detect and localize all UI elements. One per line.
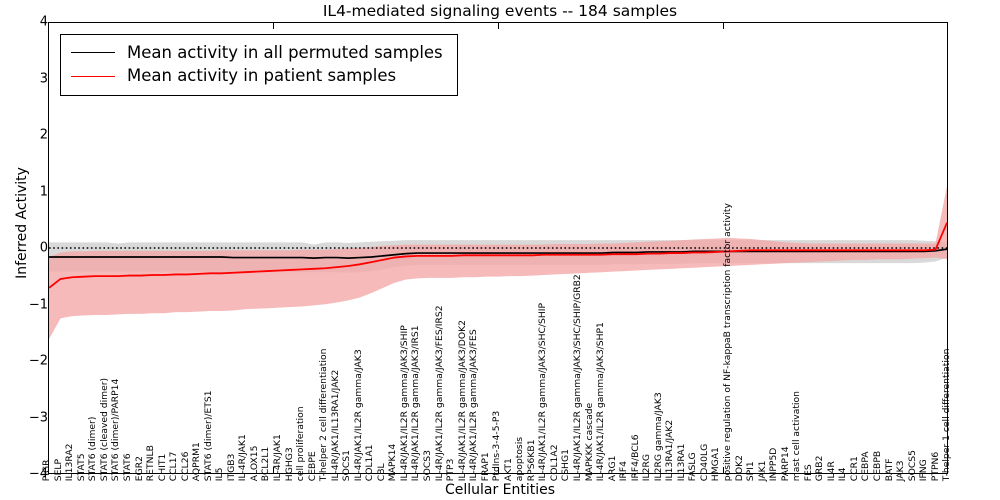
x-category-label: CBL bbox=[377, 463, 386, 481]
x-category-label: ITGB3 bbox=[227, 454, 236, 482]
x-category-label: IL-4R/JAK1/IL2R gamma/JAK3/FES bbox=[469, 329, 478, 481]
x-category-label: IL2RG gamma/JAK3 bbox=[654, 392, 663, 481]
x-category-label: AQPRM1 bbox=[192, 442, 201, 481]
x-category-label: CEBPE bbox=[307, 451, 316, 481]
x-category-label: STAT6 bbox=[123, 453, 132, 481]
legend-item: Mean activity in patient samples bbox=[71, 64, 443, 87]
x-category-label: IFNG bbox=[919, 459, 928, 481]
x-category-label: PTP3 bbox=[446, 459, 455, 482]
x-category-label: STAT5 bbox=[77, 453, 86, 481]
x-category-label: CCL26 bbox=[180, 452, 189, 482]
x-tick-mark bbox=[498, 467, 499, 474]
chart-root: IL4-mediated signaling events -- 184 sam… bbox=[0, 0, 1000, 500]
x-category-label: IL-4R/JAK1/IL2R gamma/JAK3/SHIP bbox=[400, 325, 409, 481]
x-category-label: JAK3 bbox=[896, 461, 905, 482]
x-category-label: BCL2L1 bbox=[261, 447, 270, 481]
x-category-label: CCL17 bbox=[169, 452, 178, 482]
legend-item: Mean activity in all permuted samples bbox=[71, 41, 443, 64]
x-category-label: AKT1 bbox=[504, 458, 513, 481]
x-category-label: JAK1 bbox=[757, 461, 766, 482]
x-category-label: FRAP1 bbox=[480, 452, 489, 481]
x-category-label: DOK2 bbox=[734, 455, 743, 481]
x-category-label: EGR2 bbox=[134, 456, 143, 481]
legend-label: Mean activity in all permuted samples bbox=[127, 41, 443, 64]
x-category-label: IL-4R/JAK1 bbox=[238, 434, 247, 481]
x-category-label: IL-4R/JAK1/IL2R gamma/JAK3/FES/IRS2 bbox=[434, 305, 443, 481]
x-category-label: CHIT1 bbox=[157, 454, 166, 482]
x-category-label: cell proliferation bbox=[296, 406, 305, 481]
x-category-label: STAT6 (dimer) bbox=[88, 417, 97, 482]
legend-label: Mean activity in patient samples bbox=[127, 64, 396, 87]
x-category-label: CCR1 bbox=[850, 456, 859, 481]
y-axis-label: Inferred Activity bbox=[14, 123, 30, 323]
x-category-label: RETNLB bbox=[146, 445, 155, 481]
x-category-label: apoptosis bbox=[515, 437, 524, 481]
x-tick-mark bbox=[498, 22, 499, 29]
x-category-label: IL5 bbox=[215, 468, 224, 482]
x-category-label: CEBPB bbox=[873, 451, 882, 481]
x-category-label: HGHG3 bbox=[284, 447, 293, 481]
x-category-label: ALOX15 bbox=[250, 445, 259, 481]
x-tick-mark bbox=[273, 467, 274, 474]
y-tick-label: 4 bbox=[8, 15, 48, 30]
x-category-label: BATF bbox=[884, 458, 893, 481]
x-category-label: mast cell activation bbox=[792, 391, 801, 481]
x-category-label: IL-4R/JAK1 bbox=[273, 434, 282, 481]
x-category-label: HMGA1 bbox=[711, 447, 720, 481]
x-category-label: SELP bbox=[54, 459, 63, 481]
x-category-label: FASLG bbox=[688, 452, 697, 481]
chart-title: IL4-mediated signaling events -- 184 sam… bbox=[0, 2, 1000, 20]
x-category-label: COL1A1 bbox=[365, 444, 374, 481]
x-tick-mark bbox=[723, 467, 724, 474]
chart-legend: Mean activity in all permuted samplesMea… bbox=[60, 34, 458, 96]
x-tick-mark bbox=[723, 22, 724, 29]
y-tick-label: −1 bbox=[8, 297, 48, 312]
y-tick-label: 2 bbox=[8, 128, 48, 143]
x-category-label: IRF4 bbox=[619, 461, 628, 481]
y-tick-label: 0 bbox=[8, 241, 48, 256]
x-tick-mark bbox=[273, 22, 274, 29]
x-category-label: MAPK14 bbox=[388, 444, 397, 481]
x-category-label: IL-4R/JAK1/IL2R gamma/JAK3 bbox=[354, 349, 363, 481]
x-category-label: STAT6 (dimer)/ETS1 bbox=[204, 390, 213, 481]
x-category-label: CD40LG bbox=[700, 444, 709, 481]
x-category-label: IL-4R/JAK1/IL2R gamma/JAK3/SHP1 bbox=[596, 322, 605, 481]
x-category-label: IL2RG bbox=[642, 454, 651, 481]
x-category-label: PARP14 bbox=[780, 446, 789, 481]
x-category-label: IL-4R/JAK1/IL13RA1/JAK2 bbox=[330, 370, 339, 482]
x-category-label: SOCS5 bbox=[907, 450, 916, 481]
legend-line-swatch bbox=[71, 52, 115, 53]
x-category-label: RPS6KB1 bbox=[527, 439, 536, 481]
x-category-label: IL4R bbox=[827, 461, 836, 481]
x-category-label: IL13RA2 bbox=[65, 444, 74, 482]
x-category-label: T-helper 2 cell differentiation bbox=[319, 349, 328, 482]
x-category-label: IL4 bbox=[838, 468, 847, 482]
x-category-label: IL-4R/JAK1/IL2R gamma/JAK3/SHC/SHIP bbox=[538, 303, 547, 481]
x-category-label: IL-4R/JAK1/IL2R gamma/JAK3/SHC/SHIP/GRB2 bbox=[573, 274, 582, 481]
x-category-label: SPI1 bbox=[746, 461, 755, 481]
x-axis-label: Cellular Entities bbox=[0, 482, 1000, 498]
x-category-label: IL-4R/JAK1/IL2R gamma/JAK3/DOK2 bbox=[457, 320, 466, 481]
y-tick-label: 3 bbox=[8, 71, 48, 86]
x-category-label: IL13RA1 bbox=[677, 444, 686, 482]
x-category-label: IL13RA1/JAK2 bbox=[665, 420, 674, 481]
x-category-label: CSHG1 bbox=[561, 449, 570, 481]
y-tick-label: 1 bbox=[8, 184, 48, 199]
x-category-label: PTPN6 bbox=[930, 452, 939, 481]
x-category-label: MAPKKK cascade bbox=[584, 403, 593, 481]
y-tick-label: −2 bbox=[8, 354, 48, 369]
x-category-label: T-helper 1 cell differentiation bbox=[942, 349, 951, 482]
y-tick-label: −3 bbox=[8, 410, 48, 425]
x-category-label: positive regulation of NF-kappaB transcr… bbox=[723, 203, 732, 481]
x-category-label: INPP5D bbox=[769, 448, 778, 482]
x-category-label: SOCS1 bbox=[342, 450, 351, 481]
x-category-label: PtdIns-3-4-5-P3 bbox=[492, 411, 501, 481]
legend-line-swatch bbox=[71, 76, 115, 77]
x-category-label: CEBPA bbox=[861, 451, 870, 481]
x-category-label: STAT6 (dimer)/PARP14 bbox=[111, 379, 120, 482]
x-category-label: IRF4/BCL6 bbox=[630, 434, 639, 481]
x-category-label: GRB2 bbox=[815, 456, 824, 482]
x-category-label: STAT6 (cleaved dimer) bbox=[100, 378, 109, 481]
x-category-label: IL-4R/JAK1/IL2R gamma/JAK3/IRS1 bbox=[411, 325, 420, 481]
x-category-label: SOCS3 bbox=[423, 450, 432, 481]
x-category-label: COL1A2 bbox=[550, 444, 559, 481]
x-category-label: FES bbox=[804, 464, 813, 481]
x-category-label: ARG1 bbox=[607, 456, 616, 482]
x-category-label: PIGR bbox=[42, 459, 51, 481]
